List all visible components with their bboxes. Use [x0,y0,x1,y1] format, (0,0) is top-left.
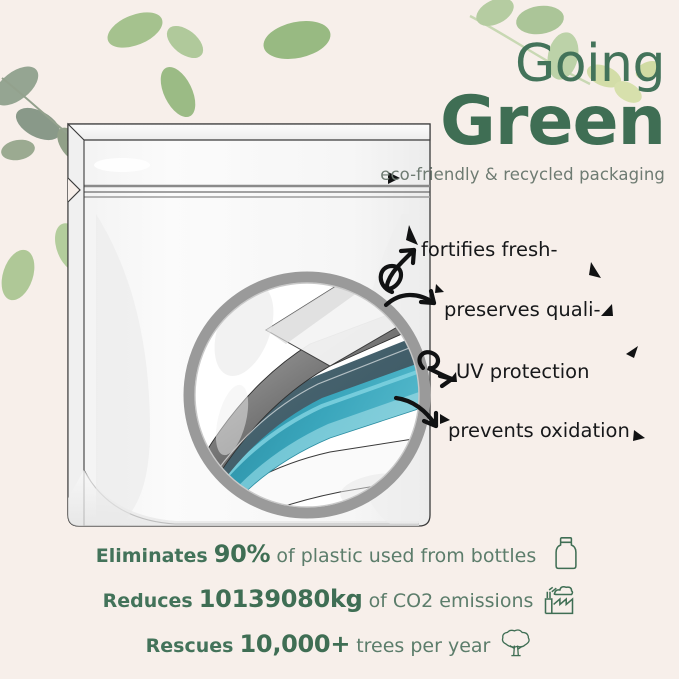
wedge-accent-icon [626,346,638,358]
page-title-line2: Green [380,87,665,156]
wedge-accent-icon [435,284,444,293]
stat-tail: of CO2 emissions [369,590,534,612]
wedge-accent-icon [633,430,645,441]
stat-value: 10,000+ [240,630,351,658]
stat-row: Reduces 10139080kg of CO2 emissions [0,579,679,619]
factory-emissions-icon [542,581,576,617]
page-subtitle: eco-friendly & recycled packaging [380,165,665,184]
wedge-accent-icon [601,304,613,316]
stat-line: Eliminates 90% of plastic used from bott… [96,540,536,568]
stats-block: Eliminates 90% of plastic used from bott… [0,534,679,669]
stat-tail: of plastic used from bottles [276,545,536,567]
stat-value: 90% [214,540,271,568]
curly-arrow-icon [381,250,414,292]
subtitle-row: eco-friendly & recycled packaging [380,165,665,184]
stat-line: Rescues 10,000+ trees per year [146,630,491,658]
stat-value: 10139080kg [199,585,363,613]
feature-label-uv-protection: UV protection [456,360,589,383]
wedge-accent-icon [589,262,601,278]
loop-arrow-icon [419,352,452,379]
stat-lead: Rescues [146,635,234,657]
stat-tail: trees per year [356,635,490,657]
heading-block: Going Green eco-friendly & recycled pack… [380,38,665,184]
infographic-canvas: Going Green eco-friendly & recycled pack… [0,0,679,679]
feature-label-fortifies: fortifies fresh- [421,238,558,261]
feature-label-preserves: preserves quali- [444,298,601,321]
stat-lead: Reduces [103,590,193,612]
stat-lead: Eliminates [96,545,208,567]
stat-line: Reduces 10139080kg of CO2 emissions [103,585,534,613]
stat-row: Rescues 10,000+ trees per year [0,624,679,664]
tree-icon [499,626,533,662]
bottle-icon [549,536,583,572]
stat-row: Eliminates 90% of plastic used from bott… [0,534,679,574]
wedge-accent-icon [406,225,418,245]
feature-label-prevents-oxidation: prevents oxidation [448,419,630,442]
